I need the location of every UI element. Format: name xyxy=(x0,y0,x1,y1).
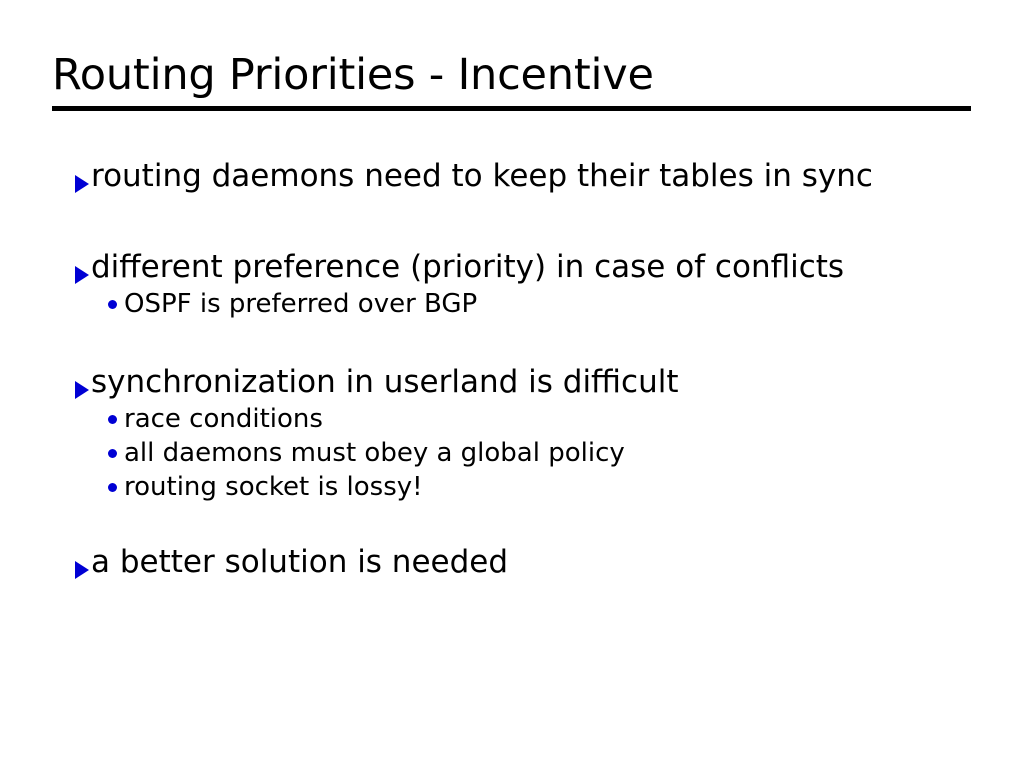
dot-icon xyxy=(62,436,124,461)
slide-title-block: Routing Priorities - Incentive xyxy=(52,52,971,111)
bullet-group: routing daemons need to keep their table… xyxy=(62,156,992,196)
triangle-right-icon xyxy=(62,156,91,196)
bullet-group: synchronization in userland is difficult… xyxy=(62,362,992,504)
list-item-level2: OSPF is preferred over BGP xyxy=(62,287,992,321)
triangle-right-icon xyxy=(62,362,91,402)
list-item-level2-label: routing socket is lossy! xyxy=(124,470,992,504)
list-item-level1: a better solution is needed xyxy=(62,542,992,582)
list-item-level1-label: synchronization in userland is difficult xyxy=(91,362,992,402)
list-item-level1-label: routing daemons need to keep their table… xyxy=(91,156,992,196)
presentation-slide: Routing Priorities - Incentive routing d… xyxy=(0,0,1024,768)
dot-icon xyxy=(62,470,124,495)
list-item-level1: synchronization in userland is difficult xyxy=(62,362,992,402)
list-item-level1-label: a better solution is needed xyxy=(91,542,992,582)
dot-icon xyxy=(62,287,124,312)
list-item-level2: race conditions xyxy=(62,402,992,436)
list-item-level2-label: race conditions xyxy=(124,402,992,436)
triangle-right-icon xyxy=(62,542,91,582)
list-item-level1: routing daemons need to keep their table… xyxy=(62,156,992,196)
bullet-group: different preference (priority) in case … xyxy=(62,247,992,321)
slide-body: routing daemons need to keep their table… xyxy=(62,156,992,582)
list-item-level2: routing socket is lossy! xyxy=(62,470,992,504)
list-item-level1-label: different preference (priority) in case … xyxy=(91,247,992,287)
spacer xyxy=(62,504,992,542)
spacer xyxy=(62,196,992,247)
list-item-level2: all daemons must obey a global policy xyxy=(62,436,992,470)
triangle-right-icon xyxy=(62,247,91,287)
title-divider xyxy=(52,106,971,111)
dot-icon xyxy=(62,402,124,427)
bullet-group: a better solution is needed xyxy=(62,542,992,582)
list-item-level2-label: all daemons must obey a global policy xyxy=(124,436,992,470)
list-item-level1: different preference (priority) in case … xyxy=(62,247,992,287)
spacer xyxy=(62,321,992,362)
page-title: Routing Priorities - Incentive xyxy=(52,52,971,98)
list-item-level2-label: OSPF is preferred over BGP xyxy=(124,287,992,321)
